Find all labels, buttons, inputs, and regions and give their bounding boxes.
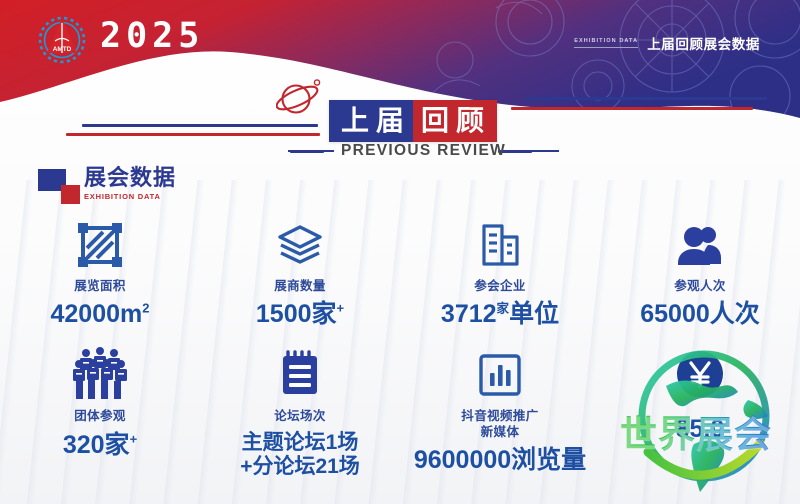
stat-participating-companies: 参会企业 3712家单位 xyxy=(400,218,600,328)
stat-label: 参会企业 xyxy=(474,279,526,294)
stat-value-main: 85.0 xyxy=(676,415,725,443)
exhibition-area-icon xyxy=(75,218,125,270)
stat-label: 参观人次 xyxy=(674,279,726,294)
stat-value-main: 320家 xyxy=(63,431,130,459)
red-square-icon xyxy=(61,185,80,204)
stat-value-sup: + xyxy=(337,301,345,316)
stat-value-sup: 2 xyxy=(142,301,149,316)
bar-chart-icon xyxy=(475,348,525,400)
rule-right-red xyxy=(511,107,753,110)
header-right-title-group: EXHIBITION DATA 上届回顾展会数据 xyxy=(574,33,760,53)
subtitle-line-right xyxy=(513,150,559,153)
stat-value-main: 9600000浏览量 xyxy=(414,446,586,474)
stats-row-2: 团体参观 320家+ xyxy=(0,348,800,479)
title-char-4: 顾 xyxy=(453,107,488,135)
stat-label: 抖音视频推广 新媒体 xyxy=(461,409,538,440)
stat-value: 3712家单位 xyxy=(441,300,559,328)
stat-forum-sessions: 论坛场次 主题论坛1场 +分论坛21场 xyxy=(200,348,400,479)
stat-value-mid-sup: 家 xyxy=(497,302,510,316)
two-persons-icon xyxy=(675,218,725,270)
stats-grid: 展览面积 42000m2 展商数量 1500家+ xyxy=(0,218,800,479)
layers-icon xyxy=(275,218,325,270)
stat-value-sup: + xyxy=(130,431,138,446)
section-heading: 展会数据 EXHIBITION DATA xyxy=(38,166,176,207)
stat-value: 65000人次 xyxy=(640,300,760,328)
subtitle-row: PREVIOUS REVIEW xyxy=(288,142,559,160)
stat-label: 论坛场次 xyxy=(274,409,326,424)
rule-right-blue xyxy=(525,97,767,100)
title-char-1: 上 xyxy=(338,107,373,135)
section-heading-cn: 展会数据 xyxy=(84,166,176,189)
stat-visitors: 参观人次 65000人次 xyxy=(600,218,800,328)
header-eyebrow: EXHIBITION DATA xyxy=(574,38,638,48)
crowd-icon xyxy=(70,348,130,400)
amtd-logo: AMTD xyxy=(33,11,91,69)
stat-value: 320家+ xyxy=(63,431,137,459)
stat-value-main: 1500家 xyxy=(256,300,337,328)
stat-value-line-1: 主题论坛1场 xyxy=(240,431,360,455)
stat-exhibitor-count: 展商数量 1500家+ xyxy=(200,218,400,328)
subtitle-text: PREVIOUS REVIEW xyxy=(341,142,506,160)
notepad-icon xyxy=(275,348,325,400)
rule-left-red xyxy=(66,133,320,136)
yuan-icon xyxy=(674,348,726,400)
title-char-3: 回 xyxy=(418,107,453,135)
stat-value-line-2: +分论坛21场 xyxy=(240,455,360,479)
title-banner-blue-half: 上 届 xyxy=(329,100,413,142)
subtitle-line-left xyxy=(288,150,334,153)
buildings-icon xyxy=(475,218,525,270)
stat-label-line-2: 新媒体 xyxy=(461,425,538,440)
section-heading-en: EXHIBITION DATA xyxy=(84,192,176,201)
stat-value: 主题论坛1场 +分论坛21场 xyxy=(240,431,360,480)
stats-row-1: 展览面积 42000m2 展商数量 1500家+ xyxy=(0,218,800,328)
title-banner-red-half: 回 顾 xyxy=(413,100,497,142)
stat-label: 团体参观 xyxy=(74,409,126,424)
stat-group-visits: 团体参观 320家+ xyxy=(0,348,200,479)
stat-value-main: 65000人次 xyxy=(640,300,760,328)
header-title: 上届回顾展会数据 xyxy=(647,33,760,53)
stat-value: 9600000浏览量 xyxy=(414,446,586,474)
title-banner: 上 届 回 顾 xyxy=(329,100,497,142)
stat-revenue: 85.0 xyxy=(600,348,800,479)
logo-text: AMTD xyxy=(53,46,72,53)
stat-douyin-promotion: 抖音视频推广 新媒体 9600000浏览量 xyxy=(400,348,600,479)
header-year: 2025 xyxy=(100,16,204,56)
stat-value: 42000m2 xyxy=(51,300,150,328)
stat-label: 展览面积 xyxy=(74,279,126,294)
stat-label: 展商数量 xyxy=(274,279,326,294)
stat-exhibition-area: 展览面积 42000m2 xyxy=(0,218,200,328)
stat-value-main: 3712 xyxy=(441,300,497,328)
title-char-2: 届 xyxy=(373,107,408,135)
stat-value-tail: 单位 xyxy=(509,300,559,328)
poster-page: AMTD 2025 EXHIBITION DATA 上届回顾展会数据 上 届 回… xyxy=(0,0,800,504)
stat-value: 85.0 xyxy=(676,415,725,443)
section-heading-marks xyxy=(38,169,78,207)
stat-label-line-1: 抖音视频推广 xyxy=(461,409,538,424)
stat-value: 1500家+ xyxy=(256,300,344,328)
planet-icon xyxy=(276,78,324,127)
stat-value-main: 42000m xyxy=(51,300,143,328)
